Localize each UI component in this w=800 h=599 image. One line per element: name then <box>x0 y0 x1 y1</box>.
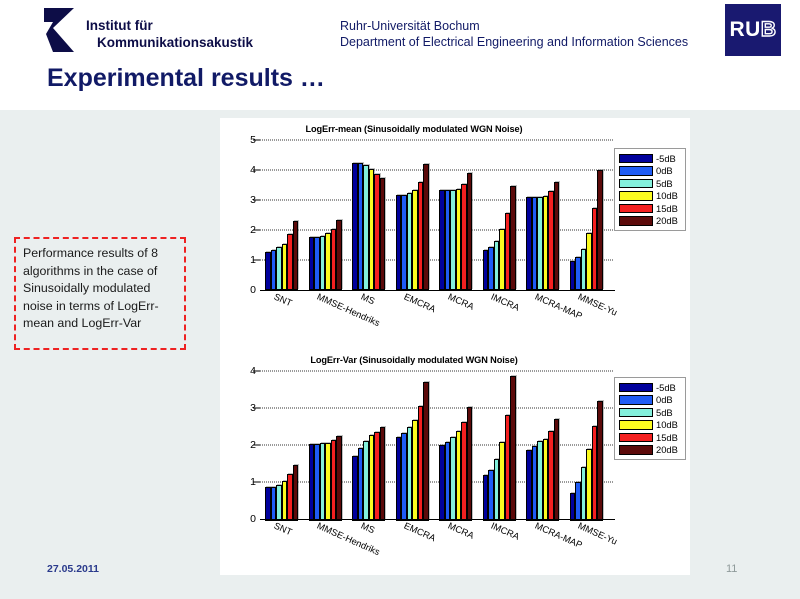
x-tick-label: MCRA <box>446 292 475 312</box>
x-tick-label: MCRA <box>446 521 475 541</box>
x-tick-label: MS <box>359 292 376 307</box>
legend-row: 5dB <box>619 406 681 419</box>
x-tick-label: MS <box>359 521 376 536</box>
x-tick-label: SNT <box>272 292 293 309</box>
bar <box>467 407 473 521</box>
bar-group <box>434 140 478 290</box>
x-label-cell: MMSE-Hendriks <box>304 521 348 581</box>
x-label-cell: SNT <box>260 292 304 352</box>
bar-group <box>304 371 348 521</box>
bar <box>423 164 429 290</box>
bar <box>467 173 473 290</box>
legend-swatch <box>619 204 653 214</box>
legend-label: 5dB <box>656 407 673 418</box>
legend-label: 10dB <box>656 190 678 201</box>
x-tick-label: MMSE-Yu <box>577 521 619 547</box>
y-tick-label: 1 <box>250 477 256 488</box>
legend-label: -5dB <box>656 382 676 393</box>
x-label-cell: IMCRA <box>478 292 522 352</box>
x-tick-label: MMSE-Yu <box>577 292 619 318</box>
university-line-2: Department of Electrical Engineering and… <box>340 34 688 50</box>
bar <box>554 419 560 521</box>
bar-group <box>347 371 391 521</box>
legend-row: 0dB <box>619 165 681 178</box>
chart2-plot-area: 01234 <box>260 371 608 521</box>
rub-logo: RUB <box>725 4 781 56</box>
x-tick-label: IMCRA <box>490 292 521 313</box>
legend-row: 20dB <box>619 215 681 228</box>
bar-group <box>565 140 609 290</box>
bar-group <box>478 371 522 521</box>
legend-swatch <box>619 420 653 430</box>
chart1-title: LogErr-mean (Sinusoidally modulated WGN … <box>220 124 690 134</box>
y-tick-label: 4 <box>250 366 256 377</box>
institute-line-1: Institut für <box>86 17 253 34</box>
bar-group <box>391 371 435 521</box>
legend-swatch <box>619 216 653 226</box>
legend-label: 0dB <box>656 394 673 405</box>
bar <box>336 436 342 521</box>
x-label-cell: SNT <box>260 521 304 581</box>
ika-k-logo-icon <box>44 8 78 54</box>
rub-logo-ru: RU <box>729 18 760 42</box>
x-label-cell: MCRA-MAP <box>521 521 565 581</box>
bar-group <box>260 371 304 521</box>
bar-groups <box>260 140 608 290</box>
legend-row: 10dB <box>619 190 681 203</box>
bar <box>336 220 342 290</box>
legend-swatch <box>619 408 653 418</box>
bar <box>380 427 386 521</box>
bar-group <box>391 140 435 290</box>
x-label-cell: MMSE-Yu <box>565 292 609 352</box>
institute-line-2: Kommunikationsakustik <box>86 34 253 51</box>
chart1-plot-area: 012345 <box>260 140 608 290</box>
x-label-cell: EMCRA <box>391 292 435 352</box>
x-label-cell: MCRA-MAP <box>521 292 565 352</box>
slide: Institut für Kommunikationsakustik Ruhr-… <box>0 0 800 599</box>
bar-group <box>478 140 522 290</box>
legend-swatch <box>619 383 653 393</box>
page-title: Experimental results … <box>47 64 325 93</box>
x-label-cell: MS <box>347 521 391 581</box>
legend-row: 10dB <box>619 419 681 432</box>
legend-label: 10dB <box>656 419 678 430</box>
footer-page-number: 11 <box>726 563 737 575</box>
x-label-cell: MMSE-Hendriks <box>304 292 348 352</box>
legend-row: 5dB <box>619 177 681 190</box>
bar-group <box>304 140 348 290</box>
legend-row: 20dB <box>619 444 681 457</box>
institute-logo: Institut für Kommunikationsakustik <box>44 8 284 56</box>
y-tick-label: 2 <box>250 225 256 236</box>
legend-label: 15dB <box>656 432 678 443</box>
legend-row: -5dB <box>619 152 681 165</box>
bar-group <box>521 140 565 290</box>
bar <box>597 170 603 290</box>
legend-row: 15dB <box>619 202 681 215</box>
legend-swatch <box>619 191 653 201</box>
x-tick-label: IMCRA <box>490 521 521 542</box>
legend-swatch <box>619 445 653 455</box>
university-name: Ruhr-Universität Bochum Department of El… <box>340 18 688 50</box>
y-tick-label: 0 <box>250 285 256 296</box>
legend-label: -5dB <box>656 153 676 164</box>
legend-label: 20dB <box>656 215 678 226</box>
x-label-cell: IMCRA <box>478 521 522 581</box>
bar <box>293 221 299 290</box>
chart-logerr-mean: LogErr-mean (Sinusoidally modulated WGN … <box>220 118 690 346</box>
y-tick-label: 4 <box>250 165 256 176</box>
x-label-cell: MCRA <box>434 521 478 581</box>
legend-swatch <box>619 395 653 405</box>
bar <box>510 376 516 521</box>
chart-panel: LogErr-mean (Sinusoidally modulated WGN … <box>220 118 690 575</box>
legend-label: 15dB <box>656 203 678 214</box>
bar-groups <box>260 371 608 521</box>
chart2-x-axis-labels: SNTMMSE-HendriksMSEMCRAMCRAIMCRAMCRA-MAP… <box>260 521 608 581</box>
y-tick-label: 3 <box>250 195 256 206</box>
legend-swatch <box>619 179 653 189</box>
chart1-legend: -5dB0dB5dB10dB15dB20dB <box>614 148 686 231</box>
chart2-title: LogErr-Var (Sinusoidally modulated WGN N… <box>220 355 690 365</box>
bar <box>510 186 516 290</box>
y-tick-label: 5 <box>250 135 256 146</box>
x-label-cell: EMCRA <box>391 521 435 581</box>
x-label-cell: MS <box>347 292 391 352</box>
bar-group <box>521 371 565 521</box>
bar <box>597 401 603 521</box>
legend-label: 0dB <box>656 165 673 176</box>
bar <box>293 465 299 521</box>
x-tick-label: SNT <box>272 521 293 538</box>
legend-label: 5dB <box>656 178 673 189</box>
chart-logerr-var: LogErr-Var (Sinusoidally modulated WGN N… <box>220 349 690 575</box>
callout-box: Performance results of 8 algorithms in t… <box>14 237 186 350</box>
bar-group <box>260 140 304 290</box>
legend-swatch <box>619 154 653 164</box>
y-tick-label: 1 <box>250 255 256 266</box>
bar <box>423 382 429 521</box>
bar-group <box>565 371 609 521</box>
university-line-1: Ruhr-Universität Bochum <box>340 18 688 34</box>
x-label-cell: MCRA <box>434 292 478 352</box>
slide-header: Institut für Kommunikationsakustik Ruhr-… <box>0 0 800 110</box>
callout-text: Performance results of 8 algorithms in t… <box>23 246 159 330</box>
x-tick-label: EMCRA <box>403 292 438 315</box>
bar <box>554 182 560 290</box>
legend-label: 20dB <box>656 444 678 455</box>
y-tick-label: 0 <box>250 514 256 525</box>
institute-name: Institut für Kommunikationsakustik <box>86 17 253 51</box>
x-tick-label: EMCRA <box>403 521 438 544</box>
rub-logo-b: B <box>761 18 777 42</box>
y-tick-label: 2 <box>250 440 256 451</box>
legend-row: 0dB <box>619 394 681 407</box>
footer-date: 27.05.2011 <box>47 563 99 575</box>
x-axis-line <box>260 519 615 520</box>
bar-group <box>434 371 478 521</box>
bar-group <box>347 140 391 290</box>
y-tick-label: 3 <box>250 403 256 414</box>
legend-swatch <box>619 433 653 443</box>
chart2-legend: -5dB0dB5dB10dB15dB20dB <box>614 377 686 460</box>
legend-row: 15dB <box>619 431 681 444</box>
legend-swatch <box>619 166 653 176</box>
x-label-cell: MMSE-Yu <box>565 521 609 581</box>
bar <box>380 178 386 291</box>
x-axis-line <box>260 290 615 291</box>
legend-row: -5dB <box>619 381 681 394</box>
chart1-x-axis-labels: SNTMMSE-HendriksMSEMCRAMCRAIMCRAMCRA-MAP… <box>260 292 608 352</box>
